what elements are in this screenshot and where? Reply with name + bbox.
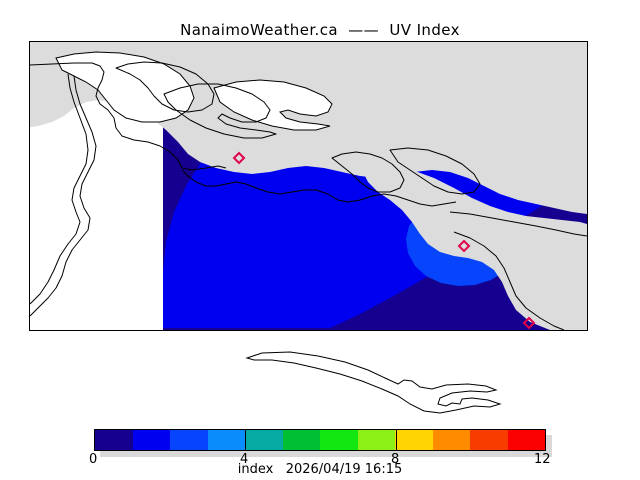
colorbar-segment-7-8	[358, 430, 396, 450]
colorbar-drop-shadow	[100, 451, 552, 457]
colorbar-segment-8-9	[395, 430, 433, 450]
colorbar-divider-8	[396, 429, 397, 451]
vancouver-island-south-outline	[247, 352, 500, 413]
colorbar-caption: index 2026/04/19 16:15	[0, 462, 640, 477]
island-shape	[247, 352, 500, 413]
colorbar-segment-4-5	[245, 430, 283, 450]
uv-index-map-page: NanaimoWeather.ca —— UV Index	[0, 0, 640, 480]
map-plot-area[interactable]	[29, 41, 588, 331]
colorbar-segment-6-7	[320, 430, 358, 450]
colorbar-segment-2-3	[170, 430, 208, 450]
uv-index-colorbar[interactable]	[94, 429, 546, 451]
colorbar-segment-1-2	[133, 430, 171, 450]
colorbar-segment-10-11	[470, 430, 508, 450]
colorbar-segment-0-1	[95, 430, 133, 450]
colorbar-segment-9-10	[433, 430, 471, 450]
colorbar-segment-11-12	[508, 430, 546, 450]
uv-index-map-svg	[30, 42, 587, 330]
colorbar-segment-3-4	[208, 430, 246, 450]
colorbar-segment-5-6	[283, 430, 321, 450]
page-title: NanaimoWeather.ca —— UV Index	[0, 21, 640, 39]
colorbar-divider-4	[245, 429, 246, 451]
